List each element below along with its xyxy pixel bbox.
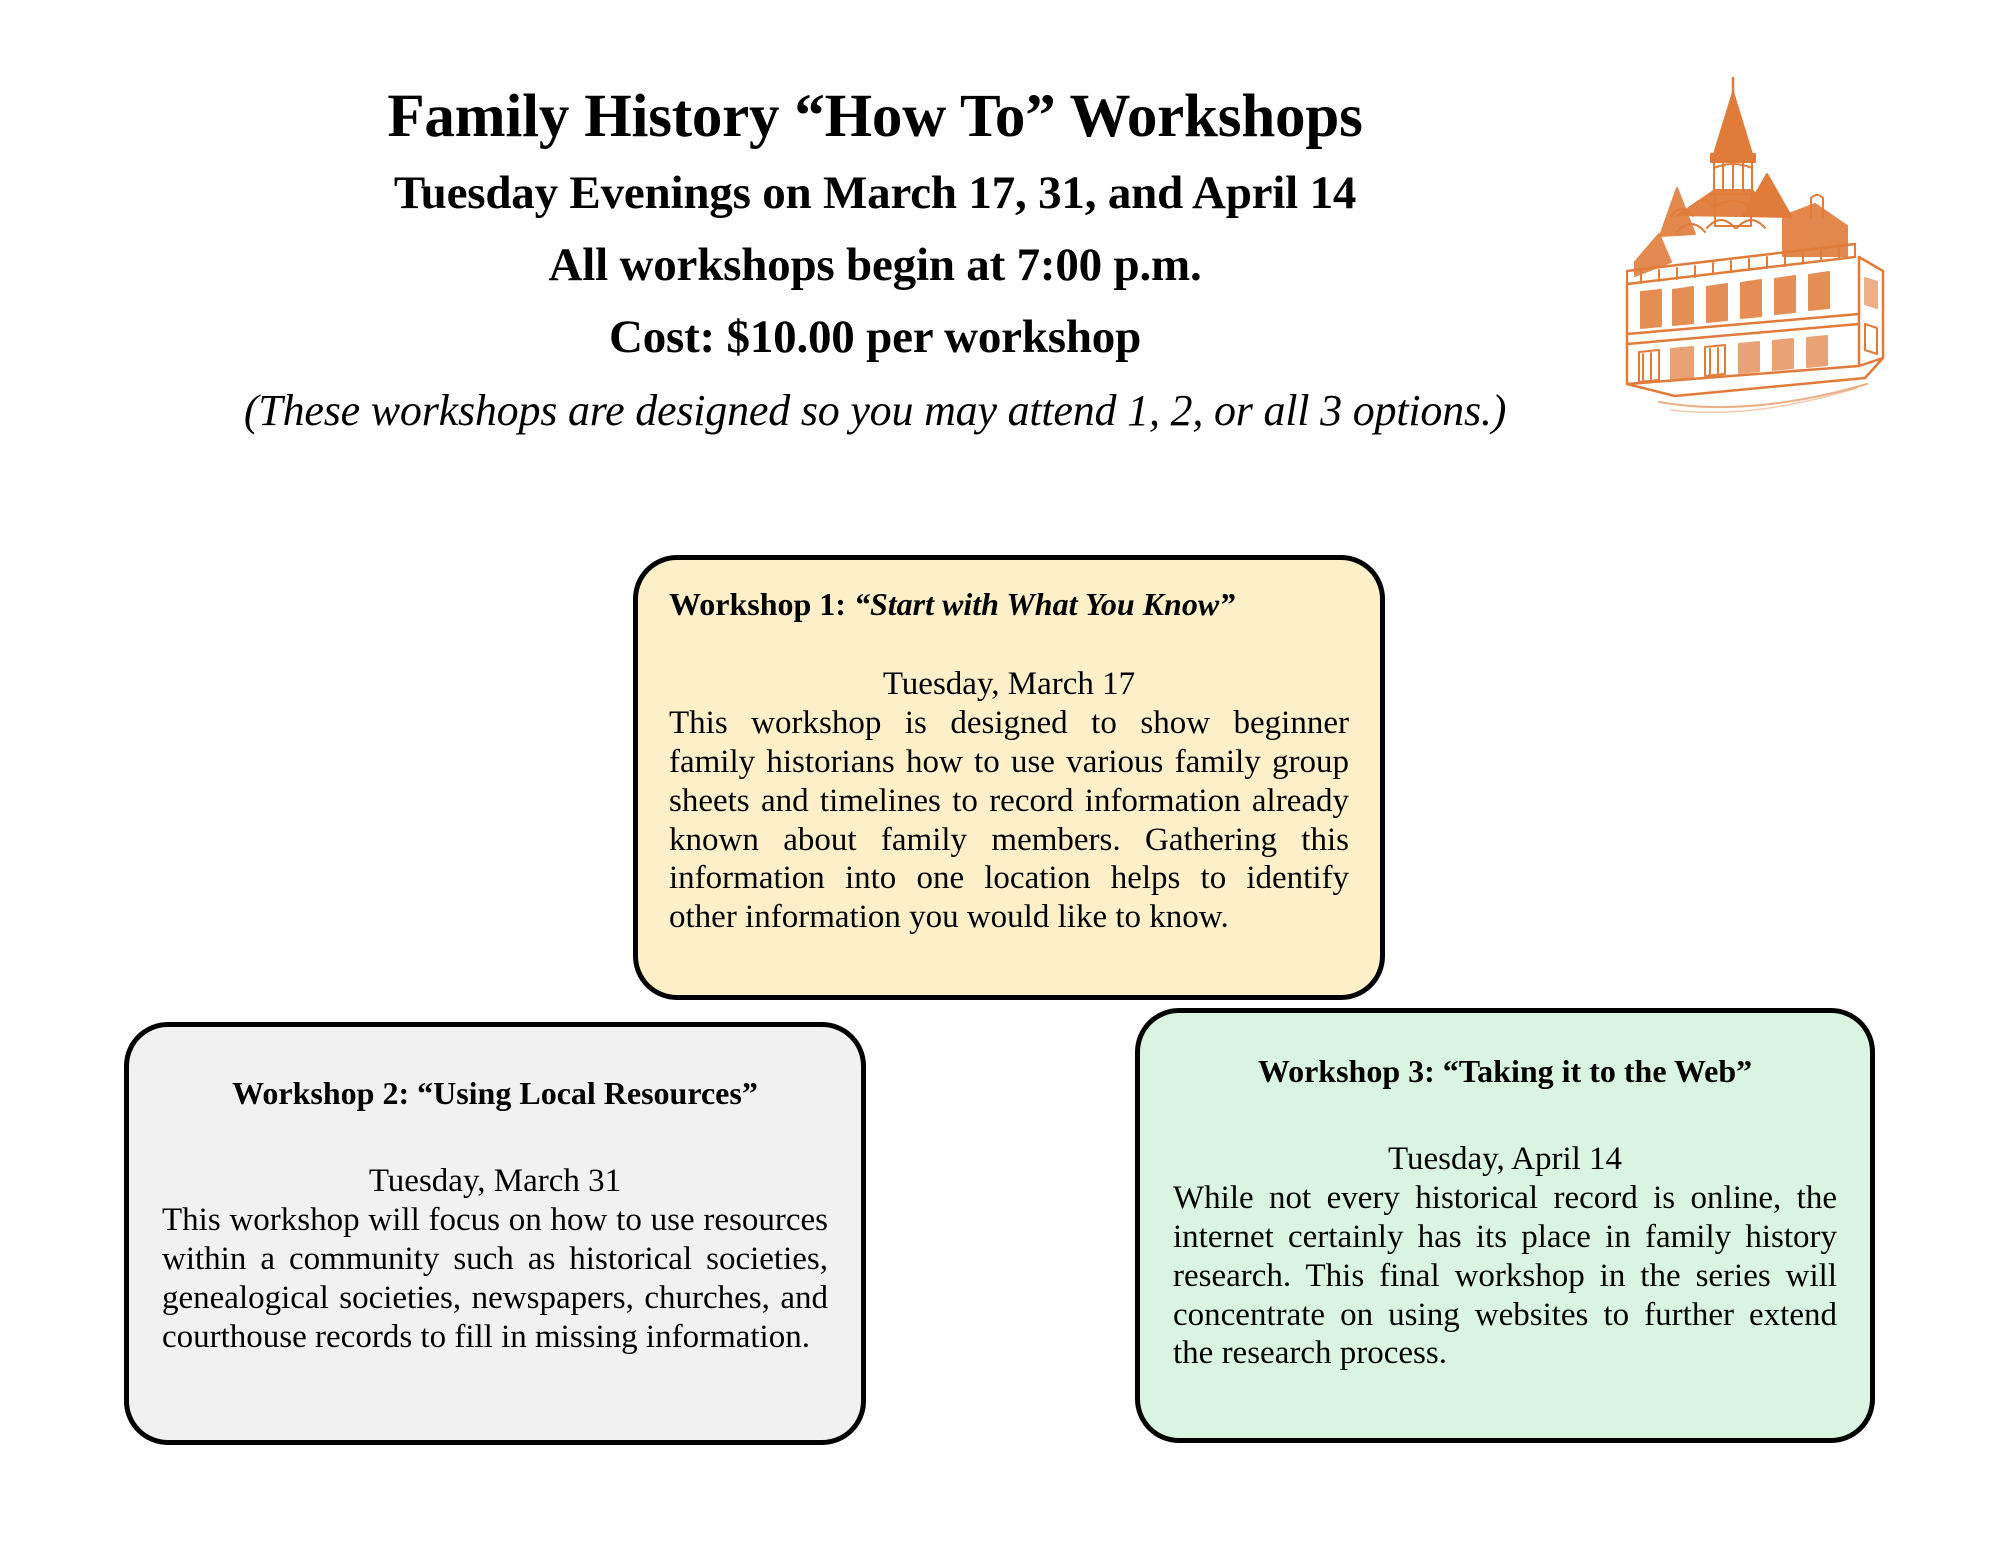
workshop-3-label: Workshop 3:: [1258, 1053, 1443, 1089]
workshop-1-label: Workshop 1:: [669, 586, 854, 622]
workshop-card-3: Workshop 3: “Taking it to the Web” Tuesd…: [1135, 1008, 1875, 1443]
workshop-3-date: Tuesday, April 14: [1173, 1140, 1837, 1179]
workshop-1-quoted-title: “Start with What You Know”: [854, 586, 1235, 622]
header-note: (These workshops are designed so you may…: [0, 388, 1750, 434]
header-cost: Cost: $10.00 per workshop: [0, 314, 1750, 362]
workshop-1-body: This workshop is designed to show beginn…: [669, 704, 1349, 938]
historic-courthouse-icon: [1615, 66, 1945, 421]
poster-header: Family History “How To” Workshops Tuesda…: [0, 0, 1750, 434]
page-title: Family History “How To” Workshops: [0, 86, 1750, 148]
workshop-card-2: Workshop 2: “Using Local Resources” Tues…: [124, 1022, 866, 1445]
workshop-1-heading: Workshop 1: “Start with What You Know”: [669, 586, 1349, 623]
header-dates: Tuesday Evenings on March 17, 31, and Ap…: [0, 170, 1750, 218]
workshop-card-1: Workshop 1: “Start with What You Know” T…: [633, 555, 1385, 1000]
workshop-2-date: Tuesday, March 31: [162, 1162, 828, 1201]
workshop-3-quoted-title: “Taking it to the Web”: [1443, 1053, 1752, 1089]
workshop-2-label: Workshop 2:: [232, 1075, 417, 1111]
workshop-3-body: While not every historical record is onl…: [1173, 1179, 1837, 1374]
workshop-2-body: This workshop will focus on how to use r…: [162, 1201, 828, 1357]
workshop-2-heading: Workshop 2: “Using Local Resources”: [162, 1075, 828, 1112]
workshop-1-date: Tuesday, March 17: [669, 665, 1349, 704]
workshop-3-heading: Workshop 3: “Taking it to the Web”: [1173, 1053, 1837, 1090]
workshop-2-quoted-title: “Using Local Resources”: [417, 1075, 758, 1111]
header-time: All workshops begin at 7:00 p.m.: [0, 242, 1750, 290]
